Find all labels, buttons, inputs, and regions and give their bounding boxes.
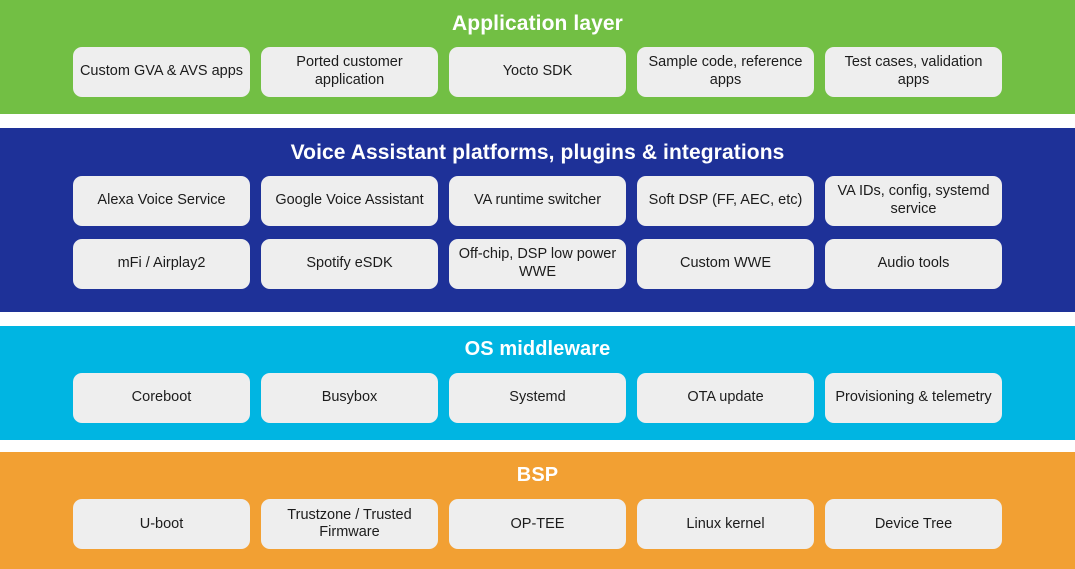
block-systemd[interactable]: Systemd	[449, 373, 626, 423]
layer-divider	[0, 312, 1075, 326]
layer-row: Coreboot Busybox Systemd OTA update Prov…	[0, 373, 1075, 423]
layer-rows-bsp: U-boot Trustzone / Trusted Firmware OP-T…	[0, 499, 1075, 549]
block-u-boot[interactable]: U-boot	[73, 499, 250, 549]
block-ported-customer-application[interactable]: Ported customer application	[261, 47, 438, 97]
layer-row: U-boot Trustzone / Trusted Firmware OP-T…	[0, 499, 1075, 549]
block-audio-tools[interactable]: Audio tools	[825, 239, 1002, 289]
block-va-ids-config-systemd-service[interactable]: VA IDs, config, systemd service	[825, 176, 1002, 226]
layered-architecture-diagram: Application layer Custom GVA & AVS apps …	[0, 0, 1075, 569]
block-va-runtime-switcher[interactable]: VA runtime switcher	[449, 176, 626, 226]
layer-row: Alexa Voice Service Google Voice Assista…	[0, 176, 1075, 226]
layer-title-bsp: BSP	[517, 465, 558, 485]
block-trustzone-trusted-firmware[interactable]: Trustzone / Trusted Firmware	[261, 499, 438, 549]
block-test-cases-validation-apps[interactable]: Test cases, validation apps	[825, 47, 1002, 97]
layer-application: Application layer Custom GVA & AVS apps …	[0, 0, 1075, 114]
layer-bsp: BSP U-boot Trustzone / Trusted Firmware …	[0, 452, 1075, 569]
layer-title-application: Application layer	[452, 13, 623, 34]
layer-row: Custom GVA & AVS apps Ported customer ap…	[0, 47, 1075, 97]
block-soft-dsp[interactable]: Soft DSP (FF, AEC, etc)	[637, 176, 814, 226]
block-op-tee[interactable]: OP-TEE	[449, 499, 626, 549]
block-off-chip-dsp-low-power-wwe[interactable]: Off-chip, DSP low power WWE	[449, 239, 626, 289]
block-yocto-sdk[interactable]: Yocto SDK	[449, 47, 626, 97]
block-spotify-esdk[interactable]: Spotify eSDK	[261, 239, 438, 289]
layer-divider	[0, 440, 1075, 452]
block-busybox[interactable]: Busybox	[261, 373, 438, 423]
block-sample-code-reference-apps[interactable]: Sample code, reference apps	[637, 47, 814, 97]
block-google-voice-assistant[interactable]: Google Voice Assistant	[261, 176, 438, 226]
layer-divider	[0, 114, 1075, 128]
block-coreboot[interactable]: Coreboot	[73, 373, 250, 423]
block-provisioning-telemetry[interactable]: Provisioning & telemetry	[825, 373, 1002, 423]
block-custom-gva-avs-apps[interactable]: Custom GVA & AVS apps	[73, 47, 250, 97]
block-linux-kernel[interactable]: Linux kernel	[637, 499, 814, 549]
layer-title-os-middleware: OS middleware	[465, 339, 611, 359]
layer-rows-application: Custom GVA & AVS apps Ported customer ap…	[0, 47, 1075, 97]
block-device-tree[interactable]: Device Tree	[825, 499, 1002, 549]
layer-row: mFi / Airplay2 Spotify eSDK Off-chip, DS…	[0, 239, 1075, 289]
block-ota-update[interactable]: OTA update	[637, 373, 814, 423]
block-mfi-airplay2[interactable]: mFi / Airplay2	[73, 239, 250, 289]
layer-rows-os-middleware: Coreboot Busybox Systemd OTA update Prov…	[0, 373, 1075, 423]
block-custom-wwe[interactable]: Custom WWE	[637, 239, 814, 289]
layer-os-middleware: OS middleware Coreboot Busybox Systemd O…	[0, 326, 1075, 441]
block-alexa-voice-service[interactable]: Alexa Voice Service	[73, 176, 250, 226]
layer-title-voice-assistant: Voice Assistant platforms, plugins & int…	[291, 142, 785, 163]
layer-voice-assistant: Voice Assistant platforms, plugins & int…	[0, 128, 1075, 312]
layer-rows-voice-assistant: Alexa Voice Service Google Voice Assista…	[0, 176, 1075, 289]
